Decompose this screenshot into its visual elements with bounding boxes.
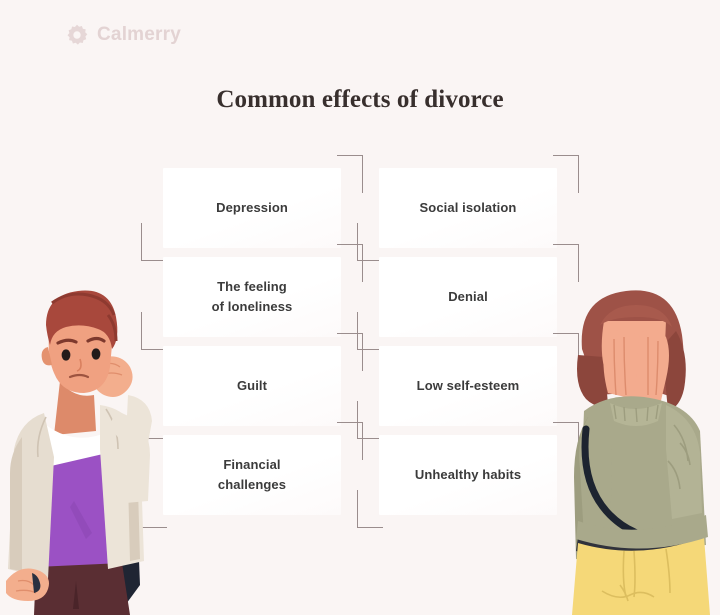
effect-card-box[interactable]: The feelingof loneliness (163, 257, 341, 337)
effect-card-box[interactable]: Social isolation (379, 168, 557, 248)
effect-card[interactable]: Depression (163, 168, 341, 248)
effect-card-box[interactable]: Guilt (163, 346, 341, 426)
effect-card[interactable]: Financialchallenges (163, 435, 341, 515)
effects-column-left: Depression The feelingof loneliness Guil… (163, 168, 341, 524)
effects-grid: Depression The feelingof loneliness Guil… (163, 168, 557, 524)
infographic-canvas: Calmerry Common effects of divorce Depre… (0, 0, 720, 615)
effect-card[interactable]: The feelingof loneliness (163, 257, 341, 337)
effect-card[interactable]: Unhealthy habits (379, 435, 557, 515)
effect-label: Low self-esteem (417, 376, 520, 396)
page-title: Common effects of divorce (0, 86, 720, 114)
effect-card[interactable]: Social isolation (379, 168, 557, 248)
effect-card-box[interactable]: Denial (379, 257, 557, 337)
effect-card[interactable]: Guilt (163, 346, 341, 426)
effect-label: Financialchallenges (218, 455, 286, 495)
brand-logo[interactable]: Calmerry (66, 24, 181, 46)
effect-card-box[interactable]: Unhealthy habits (379, 435, 557, 515)
brand-name: Calmerry (97, 24, 181, 46)
effect-card-box[interactable]: Depression (163, 168, 341, 248)
effect-card-box[interactable]: Low self-esteem (379, 346, 557, 426)
effect-label: Unhealthy habits (415, 465, 521, 485)
effect-label: Guilt (237, 376, 267, 396)
effect-card[interactable]: Low self-esteem (379, 346, 557, 426)
effect-label: Denial (448, 287, 488, 307)
effect-label: The feelingof loneliness (212, 277, 293, 317)
effects-column-right: Social isolation Denial Low self-esteem (379, 168, 557, 524)
illustration-woman-covering-face (548, 285, 720, 615)
effect-label: Depression (216, 198, 288, 218)
effect-card-box[interactable]: Financialchallenges (163, 435, 341, 515)
effect-card[interactable]: Denial (379, 257, 557, 337)
illustration-man-stressed (0, 285, 176, 615)
flower-gear-icon (66, 24, 88, 46)
effect-label: Social isolation (420, 198, 517, 218)
